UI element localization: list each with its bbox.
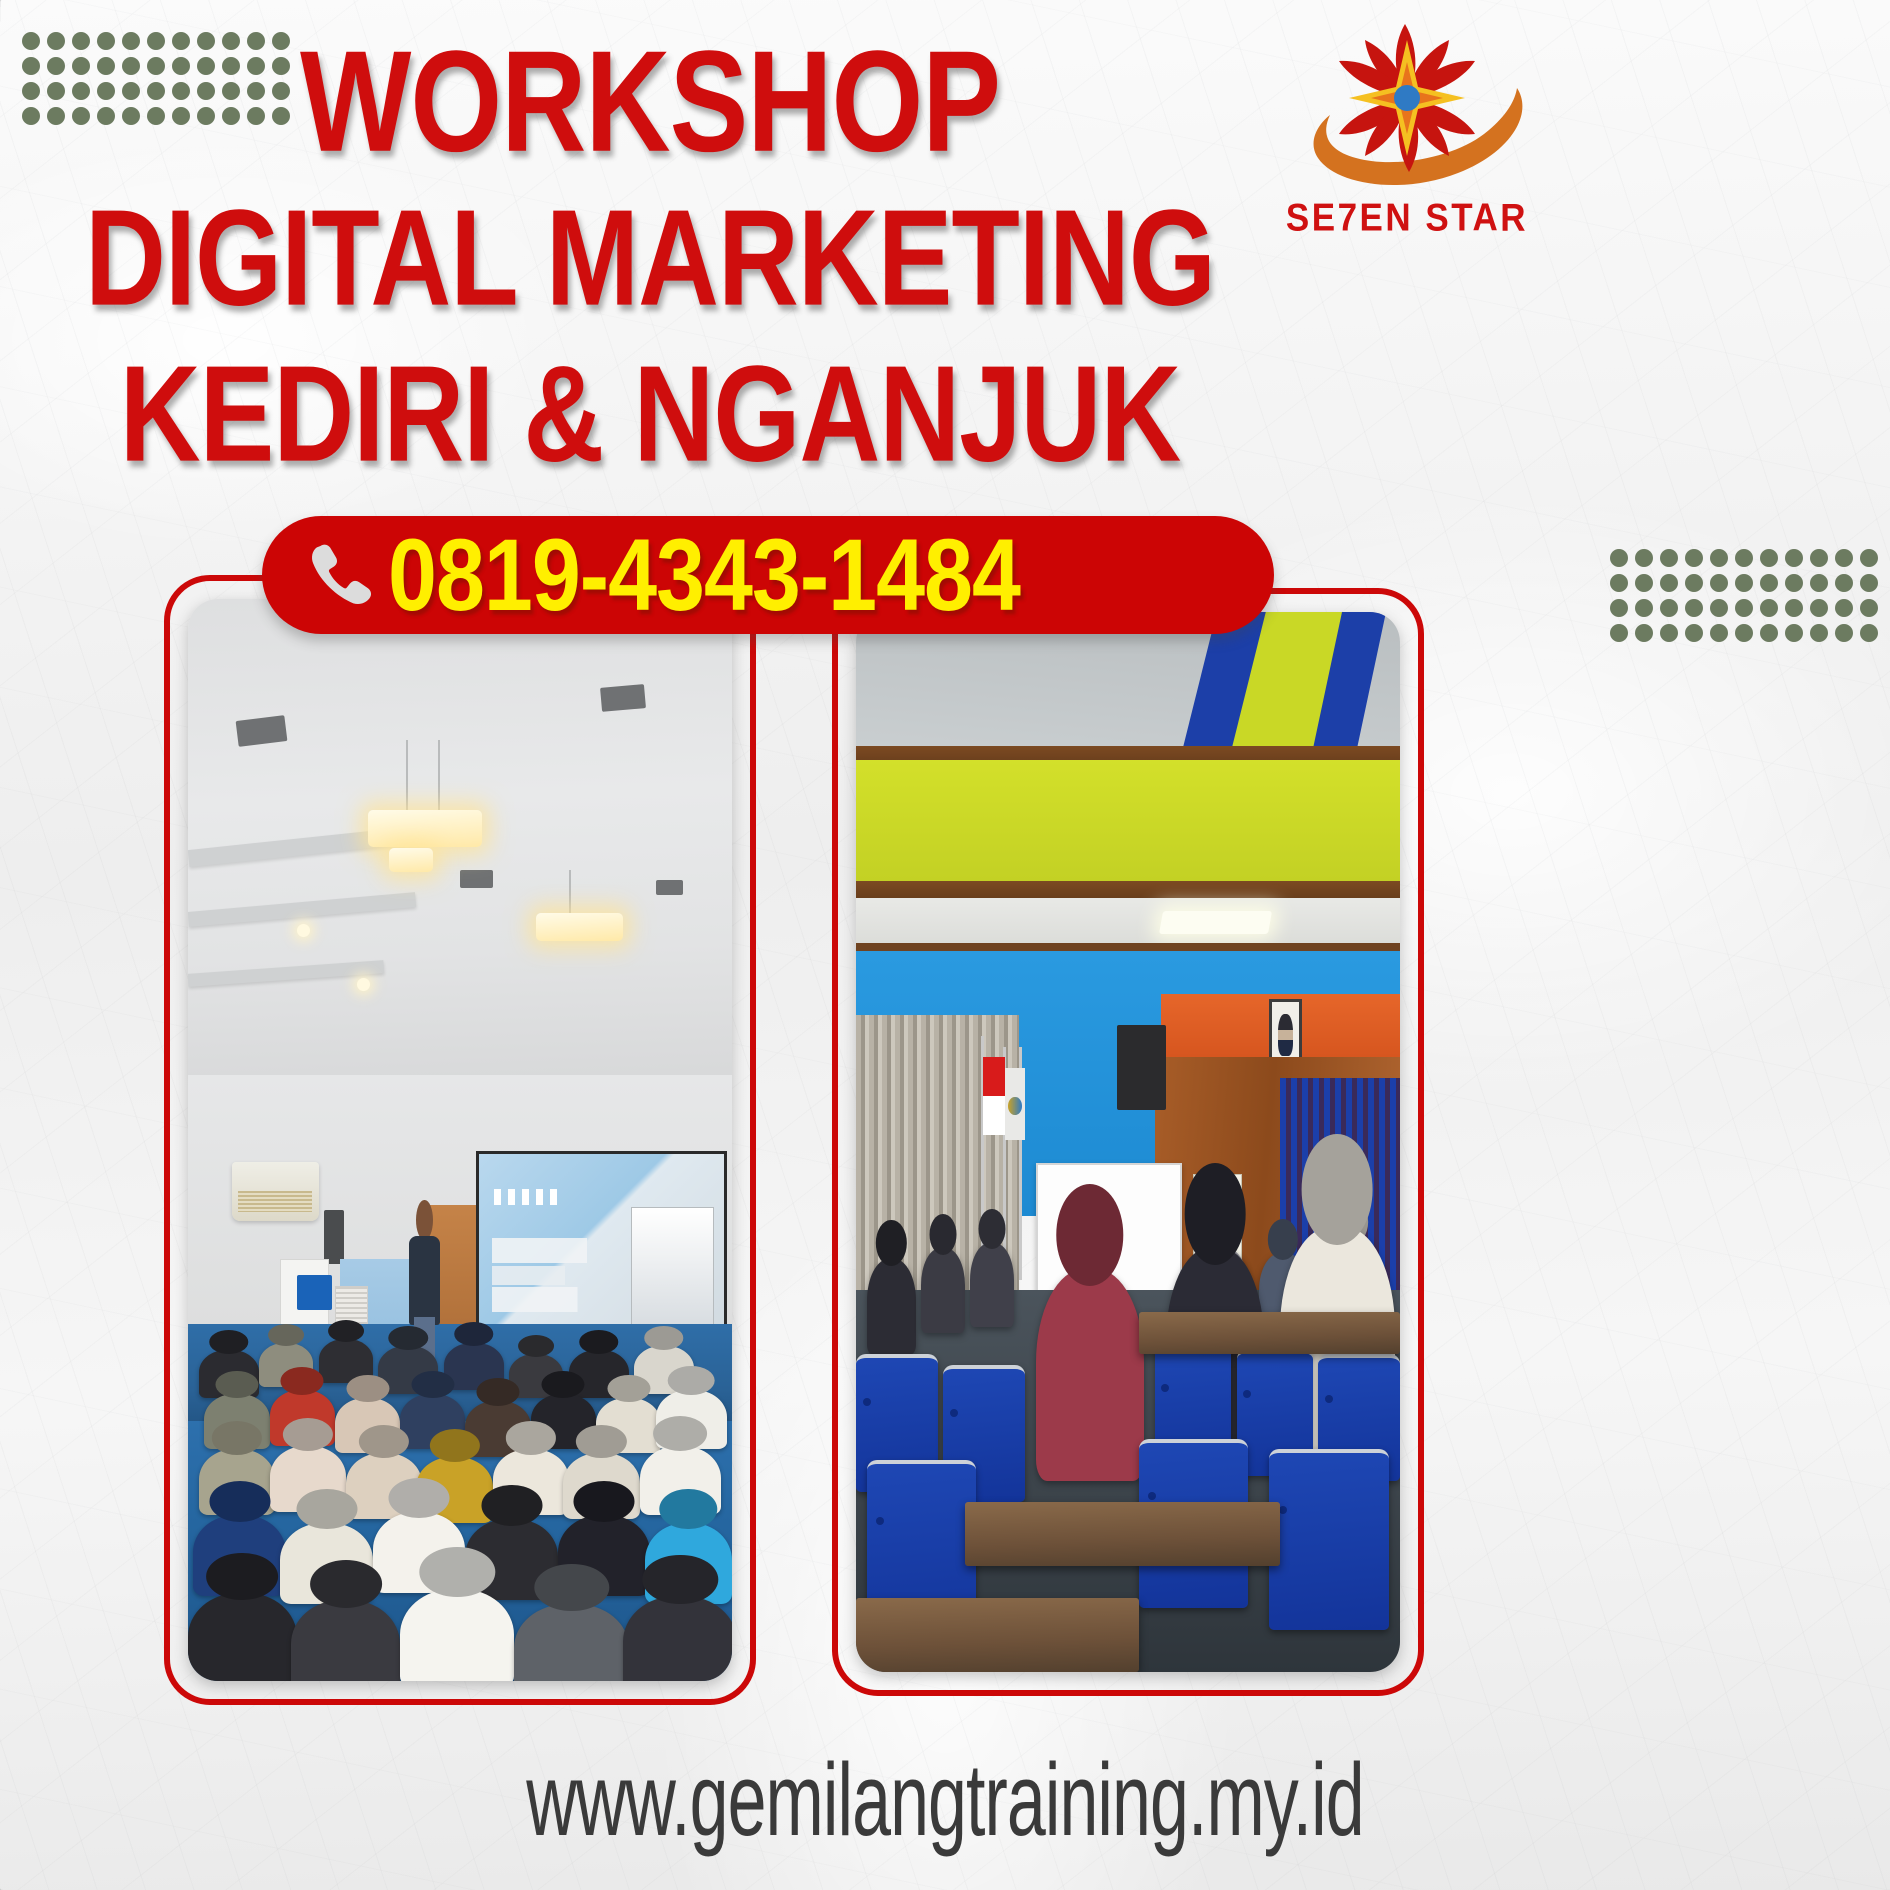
dot-grid-middle-right — [1606, 545, 1881, 645]
dot — [1785, 599, 1803, 617]
dot — [1760, 599, 1778, 617]
dot — [1785, 574, 1803, 592]
pendant-lamp — [536, 913, 623, 941]
presenter-body — [409, 1236, 439, 1324]
dot — [1735, 624, 1753, 642]
ceiling-vent — [656, 880, 683, 895]
dot — [1785, 549, 1803, 567]
ceiling-band-yellow — [856, 760, 1400, 887]
website-url[interactable]: www.gemilangtraining.my.id — [76, 1742, 1815, 1859]
dot — [1660, 574, 1678, 592]
dot — [1635, 549, 1653, 567]
downlight — [297, 924, 310, 937]
dot — [1660, 599, 1678, 617]
dot — [1760, 549, 1778, 567]
dot — [1685, 574, 1703, 592]
dot — [1685, 599, 1703, 617]
audience-person — [514, 1604, 628, 1681]
chair — [1269, 1449, 1389, 1629]
dot — [1735, 549, 1753, 567]
dot — [1835, 599, 1853, 617]
slide-dots — [494, 1189, 562, 1204]
brand-logo: SE7EN STAR — [1272, 10, 1542, 265]
dot — [1660, 549, 1678, 567]
dot — [1610, 599, 1628, 617]
headline-block: WORKSHOP DIGITAL MARKETING KEDIRI & NGAN… — [0, 14, 1300, 458]
fluorescent-light — [1159, 911, 1272, 934]
dot — [1710, 574, 1728, 592]
flyer-canvas: WORKSHOP DIGITAL MARKETING KEDIRI & NGAN… — [0, 0, 1890, 1890]
dot — [1685, 549, 1703, 567]
logo-wordmark: SE7EN STAR — [1272, 196, 1542, 241]
dot — [1860, 549, 1878, 567]
air-conditioner — [232, 1162, 319, 1222]
presenter-head — [416, 1200, 433, 1240]
dot — [1735, 599, 1753, 617]
dot — [1785, 624, 1803, 642]
dot — [1760, 574, 1778, 592]
wall-speaker — [324, 1210, 344, 1264]
audience-crowd — [188, 1313, 732, 1681]
dot — [1810, 549, 1828, 567]
dot — [1610, 549, 1628, 567]
pendant-lamp — [389, 848, 433, 872]
organization-flag — [1005, 1068, 1025, 1140]
photo-left-scene — [188, 599, 732, 1681]
ceiling-vent — [600, 684, 645, 711]
photo-right-scene — [856, 612, 1400, 1672]
dot — [1735, 574, 1753, 592]
audience-person — [623, 1596, 732, 1681]
dot — [1635, 574, 1653, 592]
phone-number-text: 0819-4343-1484 — [388, 516, 1020, 634]
phone-banner[interactable]: 0819-4343-1484 — [262, 516, 1274, 634]
photo-frame-left — [164, 575, 756, 1705]
audience-person — [400, 1589, 514, 1681]
attendee — [867, 1259, 916, 1354]
headline-line-3: KEDIRI & NGANJUK — [0, 346, 1300, 483]
attendee-foreground-red-batik — [1036, 1269, 1145, 1481]
dot — [1710, 624, 1728, 642]
dot — [1610, 624, 1628, 642]
audience-person — [291, 1600, 400, 1681]
star-flower-swoosh-icon — [1272, 10, 1542, 210]
dot — [1860, 599, 1878, 617]
dot — [1860, 574, 1878, 592]
photo-frame-right — [832, 588, 1424, 1696]
indonesian-flag — [983, 1057, 1005, 1135]
slide-image — [631, 1207, 714, 1326]
dot — [1835, 624, 1853, 642]
dot — [1810, 574, 1828, 592]
dot — [1860, 624, 1878, 642]
downlight — [357, 978, 370, 991]
ceiling-vent — [460, 870, 493, 888]
dot — [1635, 599, 1653, 617]
dot — [1835, 574, 1853, 592]
lamp-rod — [438, 740, 440, 816]
photo-left — [188, 599, 732, 1681]
table — [1139, 1312, 1400, 1354]
lamp-rod — [406, 740, 408, 816]
dot — [1610, 574, 1628, 592]
dot — [1810, 624, 1828, 642]
table — [856, 1598, 1139, 1672]
attendee — [970, 1243, 1014, 1328]
headline-line-2: DIGITAL MARKETING — [0, 190, 1300, 327]
dot — [1660, 624, 1678, 642]
dot — [1635, 624, 1653, 642]
photo-right — [856, 612, 1400, 1672]
table — [965, 1502, 1281, 1566]
dot — [1835, 549, 1853, 567]
audience-person — [188, 1593, 297, 1681]
dot — [1710, 549, 1728, 567]
headline-line-1: WORKSHOP — [0, 30, 1300, 174]
dot — [1685, 624, 1703, 642]
attendee — [921, 1248, 965, 1333]
dot — [1810, 599, 1828, 617]
phone-handset-icon — [304, 539, 376, 611]
wall-speaker — [1117, 1025, 1166, 1110]
pendant-lamp — [368, 810, 482, 847]
dot — [1710, 599, 1728, 617]
dot — [1760, 624, 1778, 642]
exit-sign — [297, 1275, 332, 1310]
